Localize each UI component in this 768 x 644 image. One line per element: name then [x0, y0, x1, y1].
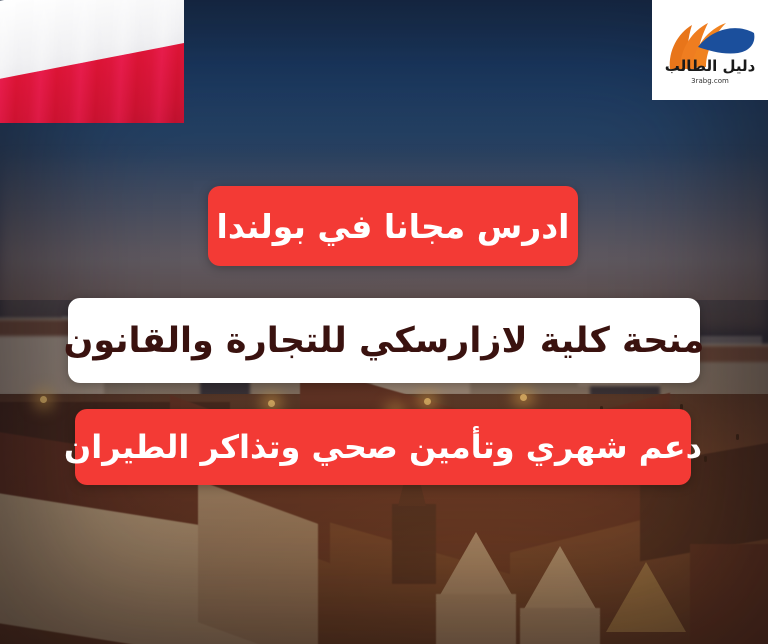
site-logo-badge[interactable]: دليل الطالب 3rabg.com — [652, 0, 768, 100]
headline-banner-tertiary: دعم شهري وتأمين صحي وتذاكر الطيران — [75, 409, 691, 485]
logo-url: 3rabg.com — [691, 77, 729, 85]
headline-text-1: ادرس مجانا في بولندا — [217, 207, 570, 246]
headline-text-3: دعم شهري وتأمين صحي وتذاكر الطيران — [64, 428, 702, 466]
flag-fold-shading — [0, 0, 184, 123]
poland-flag — [0, 0, 184, 123]
logo-wordmark: دليل الطالب — [665, 59, 756, 74]
headline-banner-secondary: منحة كلية لازارسكي للتجارة والقانون — [68, 298, 700, 383]
headline-banner-primary: ادرس مجانا في بولندا — [208, 186, 578, 266]
promo-poster: دليل الطالب 3rabg.com ادرس مجانا في بولن… — [0, 0, 768, 644]
headline-text-2: منحة كلية لازارسكي للتجارة والقانون — [64, 321, 705, 361]
